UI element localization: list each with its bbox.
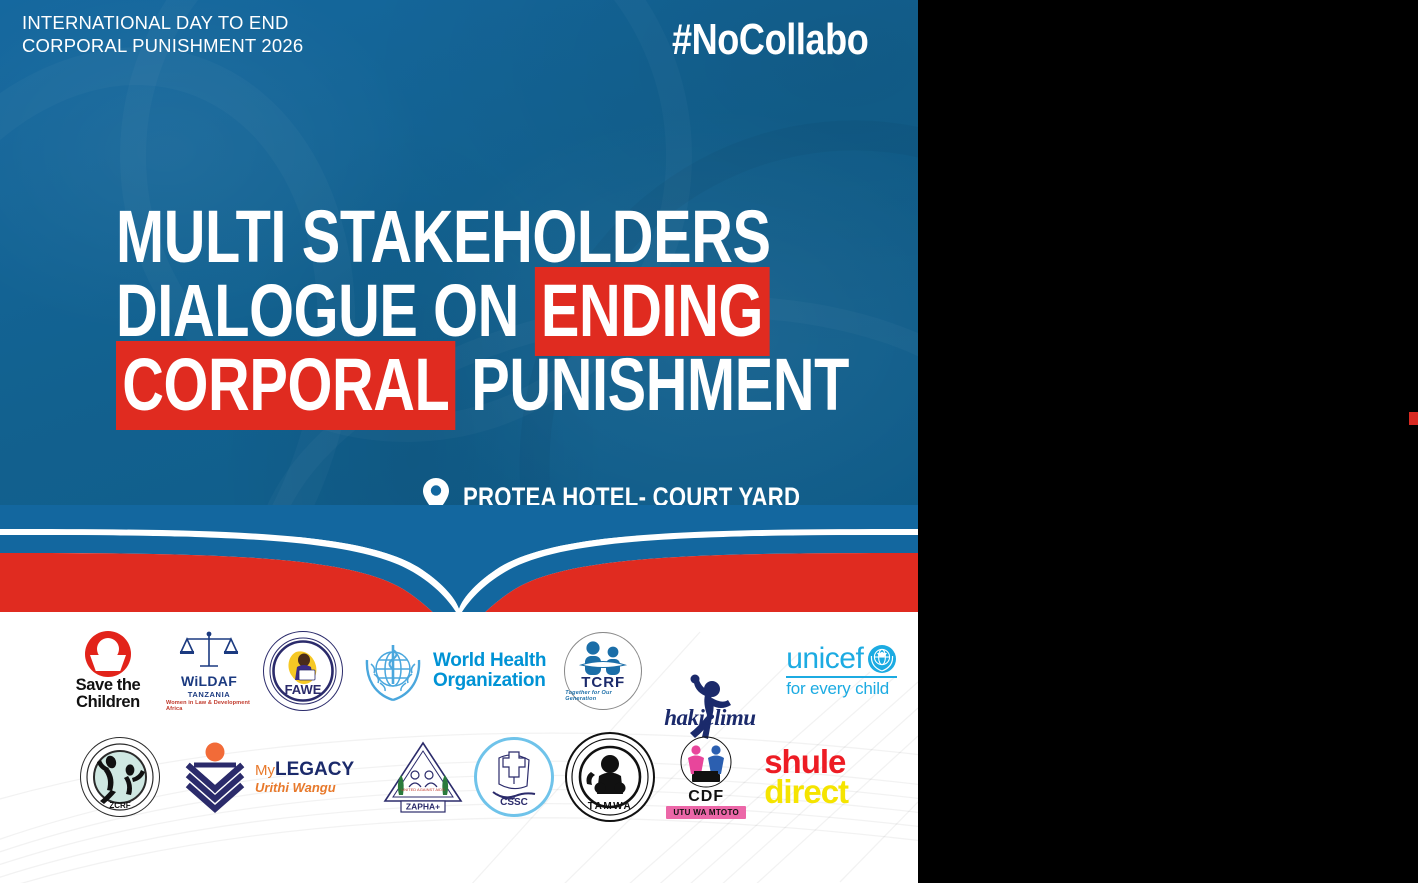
logo-shule-direct: shule direct	[764, 747, 848, 808]
partner-row-1: Save the Children	[60, 630, 897, 712]
poster-title: MULTI STAKEHOLDERS DIALOGUE ON ENDING CO…	[116, 200, 876, 422]
logo-banner: UTU WA MTOTO	[666, 806, 746, 819]
poster-hashtag: #NoCollabo	[672, 17, 868, 63]
title-segment: DIALOGUE ON	[116, 269, 535, 352]
logo-my-legacy: MyLEGACY Urithi Wangu	[180, 741, 354, 813]
svg-text:ZAPHA+: ZAPHA+	[406, 802, 440, 812]
logo-zapha-plus: ZAPHA+ UNITED AGAINST AIDS	[378, 739, 468, 815]
unicef-divider	[786, 676, 897, 677]
svg-text:ZCRF: ZCRF	[109, 801, 130, 810]
logo-cssc: CSSC	[474, 737, 554, 817]
logo-text: unicef	[786, 644, 863, 674]
my-legacy-wordmark: MyLEGACY	[255, 760, 354, 781]
cdf-children-icon	[668, 736, 744, 788]
logo-text: hakielimu	[664, 705, 755, 731]
zcrf-icon: ZCRF	[83, 740, 157, 814]
screenshot-canvas: INTERNATIONAL DAY TO END CORPORAL PUNISH…	[0, 0, 1418, 883]
logo-text: LEGACY	[275, 759, 354, 780]
title-segment-highlight: CORPORAL	[116, 341, 456, 430]
scales-of-justice-icon	[178, 630, 240, 672]
logo-text: My	[255, 762, 275, 779]
logo-zcrf: ZCRF	[78, 737, 162, 817]
title-line-1: MULTI STAKEHOLDERS	[116, 200, 709, 274]
logo-save-the-children: Save the Children	[60, 631, 156, 711]
logo-text: World Health	[433, 651, 546, 671]
svg-text:CSSC: CSSC	[500, 797, 528, 808]
logo-tagline: for every child	[786, 680, 889, 698]
edge-marker	[1409, 412, 1418, 425]
logo-text: Children	[76, 694, 140, 711]
partners-section: Save the Children	[0, 612, 918, 883]
zapha-icon: ZAPHA+ UNITED AGAINST AIDS	[379, 739, 467, 815]
who-emblem-icon	[360, 638, 426, 704]
cssc-icon: CSSC	[479, 742, 549, 812]
logo-tagline: Together for Our Generation	[565, 690, 641, 702]
title-segment: MULTI STAKEHOLDERS	[116, 195, 771, 278]
svg-text:TAMWA: TAMWA	[588, 801, 633, 812]
fawe-icon: FAWE	[266, 634, 340, 708]
fawe-emblem: FAWE	[263, 631, 343, 711]
my-legacy-weave-icon	[180, 741, 250, 813]
tamwa-emblem: TAMWA	[565, 732, 655, 822]
partner-row-2: ZCRF	[78, 732, 848, 822]
logo-cdf: CDF UTU WA MTOTO	[664, 736, 748, 819]
poster-hero-panel: INTERNATIONAL DAY TO END CORPORAL PUNISH…	[0, 0, 918, 537]
save-the-children-icon	[85, 631, 131, 677]
logo-text: direct	[764, 777, 848, 807]
logo-tcrf: TCRF Together for Our Generation	[560, 632, 646, 710]
title-line-2: DIALOGUE ON ENDING	[116, 274, 709, 348]
unicef-emblem-icon	[867, 644, 897, 674]
logo-text: WiLDAF	[181, 673, 237, 689]
logo-wildaf-tanzania: WiLDAF TANZANIA Women in Law & Developme…	[166, 630, 252, 712]
title-segment: PUNISHMENT	[456, 343, 849, 426]
tcrf-emblem: TCRF Together for Our Generation	[564, 632, 642, 710]
svg-text:UNITED AGAINST AIDS: UNITED AGAINST AIDS	[401, 787, 445, 792]
logo-text: Organization	[433, 671, 546, 691]
title-line-3: CORPORAL PUNISHMENT	[116, 348, 709, 422]
logo-text: Save the	[76, 677, 141, 694]
logo-world-health-organization: World Health Organization	[360, 638, 546, 704]
cssc-emblem: CSSC	[474, 737, 554, 817]
logo-tagline: Urithi Wangu	[255, 781, 336, 795]
logo-unicef: unicef for every child	[786, 644, 897, 697]
logo-tagline: Women in Law & Development Africa	[166, 700, 252, 712]
unicef-wordmark: unicef	[786, 644, 897, 674]
family-figures-icon	[577, 641, 629, 675]
logo-fawe-tanzania: FAWE	[260, 631, 346, 711]
svg-text:FAWE: FAWE	[285, 682, 322, 697]
logo-tamwa: TAMWA	[564, 732, 656, 822]
poster-kicker: INTERNATIONAL DAY TO END CORPORAL PUNISH…	[22, 12, 303, 57]
logo-text: CDF	[688, 789, 724, 805]
logo-text: TCRF	[581, 675, 625, 690]
tamwa-icon: TAMWA	[569, 736, 651, 818]
zcrf-emblem: ZCRF	[80, 737, 160, 817]
event-poster: INTERNATIONAL DAY TO END CORPORAL PUNISH…	[0, 0, 918, 883]
logo-text: TANZANIA	[188, 690, 231, 699]
